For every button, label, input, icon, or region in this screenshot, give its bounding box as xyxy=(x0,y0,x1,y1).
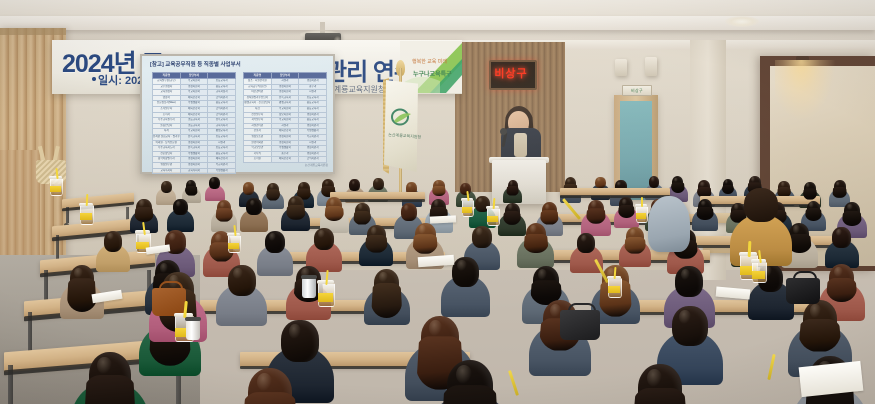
cup-brand-band xyxy=(80,213,92,220)
audience-member-hair xyxy=(134,207,153,222)
flag-emblem-icon xyxy=(391,108,412,127)
slide-footer: 논산계룡교육지원청 xyxy=(280,163,328,169)
hair-highlight xyxy=(508,204,513,210)
hair-highlight xyxy=(781,182,785,187)
handbag xyxy=(152,288,186,316)
audience-member-hair xyxy=(633,388,688,404)
wall-speaker xyxy=(645,57,657,76)
hair-highlight xyxy=(622,199,627,205)
ceiling-soffit xyxy=(0,0,875,16)
hair-highlight xyxy=(379,272,388,282)
slide-table-row: 기타직총무과행정지원과 xyxy=(244,151,327,157)
hair-highlight xyxy=(330,199,335,205)
slide-table-row: 사서학교지원과평생교육과 xyxy=(153,129,236,135)
hair-highlight xyxy=(793,225,800,233)
handout-paper xyxy=(716,287,751,300)
audience-member-hair xyxy=(842,211,862,226)
slide-table-cell: 교육복지과 xyxy=(180,168,208,174)
audience-member-hair xyxy=(441,385,499,404)
audience-member-hair xyxy=(523,234,548,253)
slide-table-row: 특수교육지도사유특교육과초등교육과 xyxy=(153,146,236,152)
hair-highlight xyxy=(597,178,601,182)
tumbler-lid xyxy=(185,317,201,321)
slide-table-row: 미화원 · 당직전문원행정지원과시설과 xyxy=(153,140,236,146)
hair-highlight xyxy=(510,181,513,185)
audience-member-head xyxy=(744,188,778,222)
hair-highlight xyxy=(545,204,550,210)
cup-lid xyxy=(135,230,149,233)
cup-brand-band xyxy=(487,216,498,222)
audience-member-hair xyxy=(540,210,559,224)
cup-brand-band xyxy=(636,213,646,219)
banner-slogan: 행복한 교육 미래 xyxy=(412,58,460,68)
hair-highlight xyxy=(834,267,843,277)
audience-member-hair xyxy=(371,283,402,318)
slide-table-row: 전산실무사정보지원과행정지원과 xyxy=(244,112,327,118)
hair-highlight xyxy=(809,202,814,208)
hair-highlight xyxy=(651,177,655,181)
cup-brand-band xyxy=(228,243,239,249)
seminar-photograph: 비상구 비상구 2024년 교 일시: 2024. 10. 2 관리 연수 논산… xyxy=(0,0,875,404)
slide-table-row: 교육실무원(교무)학교지원과초등교육과 xyxy=(153,79,236,85)
wood-slat-wall-left-lower xyxy=(0,150,40,265)
hair-highlight xyxy=(318,230,325,238)
hair-highlight xyxy=(352,181,356,185)
slide-table-row: 교육행정사학교지원과교육과정과 xyxy=(153,90,236,96)
slide-table-row: 조리실무사체육건강과급식지원과 xyxy=(153,106,236,112)
audience-member-hair xyxy=(365,235,388,253)
slide-table-row: 영양사체육건강과급식지원과 xyxy=(153,95,236,101)
exit-sign-label: 비상구 xyxy=(631,89,643,93)
slide-table-cell: 체육건강과 xyxy=(271,157,299,163)
slide-table-cell: 학생생활과 xyxy=(208,168,236,174)
audience-member-head xyxy=(672,306,708,346)
microphone-icon xyxy=(500,128,507,135)
slide-table-row: 학교보안관학생생활과행정지원과 xyxy=(244,146,327,152)
hair-highlight xyxy=(233,268,242,279)
hair-highlight xyxy=(139,200,144,206)
hair-highlight xyxy=(74,268,82,278)
slide-table-row: 과학실무사학교지원과중등교육과 xyxy=(244,118,327,124)
hair-highlight xyxy=(647,369,662,387)
hair-highlight xyxy=(456,365,472,384)
slide-table-row: 돌봄전담사초등교육과교육복지과 xyxy=(153,123,236,129)
slide-table-row: 환경미화원행정지원과시설과 xyxy=(244,140,327,146)
slide-table-row: 교육공무직(운전)행정지원과총무과 xyxy=(244,84,327,90)
slide-table-cell: 평생교육사 · 진로상담사 xyxy=(244,101,272,107)
cup-brand-band xyxy=(50,186,61,192)
slide-table-cell: 교육복지사 xyxy=(153,168,181,174)
slide-table-row: 사감학교지원과중등교육과 xyxy=(244,106,327,112)
slide-table-row: 청소 · 시설관리원시설과행정지원과 xyxy=(244,79,327,85)
hair-highlight xyxy=(211,178,215,182)
cup-brand-band xyxy=(752,271,765,279)
slide-table-row: 조리사체육건강과급식지원과 xyxy=(153,112,236,118)
slide-table-cell: 급식지원과 xyxy=(299,157,327,163)
audience-member-hair xyxy=(185,186,198,196)
slide-title: [참고] 교육공무직원 등 직종별 사업부서 xyxy=(150,60,260,69)
hair-highlight xyxy=(810,304,822,318)
slide-table-cell: 조리원 xyxy=(244,157,272,163)
led-display-text: 비상구 xyxy=(493,65,529,81)
handout-paper xyxy=(799,361,864,397)
wall-speaker xyxy=(615,59,627,76)
banner-bullet-icon xyxy=(92,77,96,81)
hair-highlight xyxy=(220,202,225,208)
audience-member-headscarf xyxy=(648,196,690,252)
slide-table-row: 전문상담사(Wee)학생생활과중등교육과 xyxy=(153,101,236,107)
slide-table-row: 조리원체육건강과급식지원과 xyxy=(244,157,327,163)
pencil xyxy=(508,370,519,396)
hair-highlight xyxy=(371,227,377,234)
slide-table-row: 평생교육사 · 진로상담사평생교육과중등교육과 xyxy=(244,101,327,107)
slide-table-row: 시설관리원시설과행정지원과 xyxy=(244,123,327,129)
hair-highlight xyxy=(700,182,704,187)
slide-table-cell: 유치원방과후전담사 xyxy=(244,95,272,101)
flag-text: 논산계룡교육지원청 xyxy=(388,132,417,143)
ceiling-light xyxy=(725,16,759,27)
slide-table-row: 전문상담사학생생활과중등교육과 xyxy=(153,151,236,157)
desk-edge xyxy=(330,199,425,202)
hair-highlight xyxy=(270,184,274,189)
slide-table-cell: 유치원 돌봄교사 · 방과후 실무사 xyxy=(153,134,181,140)
hair-highlight xyxy=(97,357,111,374)
exit-sign: 비상구 xyxy=(622,85,652,96)
slide-table-row: 간호사체육건강과학생생활과 xyxy=(244,129,327,135)
spotlight-glow xyxy=(775,60,863,170)
cup-brand-band xyxy=(318,293,333,302)
hair-highlight xyxy=(375,179,379,183)
cup-brand-band xyxy=(462,207,472,213)
slide-table-row: 통학차량실무사행정지원과체육건강과 xyxy=(153,157,236,163)
hair-highlight xyxy=(581,235,587,242)
audience-member-hair xyxy=(84,375,137,404)
desk-edge xyxy=(560,195,670,198)
hair-highlight xyxy=(701,201,706,207)
hair-highlight xyxy=(538,269,547,280)
slide-table-row: 유치원 돌봄교사 · 방과후 실무사유특교육과초등교육과 xyxy=(153,134,236,140)
slide-table-row: 교육복지사교육복지과학생생활과 xyxy=(153,168,236,174)
hair-highlight xyxy=(250,200,255,206)
hair-highlight xyxy=(176,201,181,207)
slide-table-left: 직종명담당부서 교육실무원(교무)학교지원과초등교육과교무행정사행정지원과중등교… xyxy=(152,72,236,164)
slide-table-right: 직종명담당부서 청소 · 시설관리원시설과행정지원과교육공무직(운전)행정지원과… xyxy=(243,72,327,164)
pencil xyxy=(767,354,775,380)
hair-highlight xyxy=(215,234,222,242)
hair-highlight xyxy=(257,373,272,391)
wood-slat-cap xyxy=(0,28,66,35)
hair-highlight xyxy=(325,181,329,186)
banner-logo-text: 누구나교육특구 xyxy=(413,69,461,80)
audience-member-hair xyxy=(506,186,519,196)
handbag xyxy=(560,310,600,340)
tumbler-lid xyxy=(301,275,317,279)
hair-highlight xyxy=(188,181,192,185)
slide-table-row: 특수교육실무사초등교육과유특교육과 xyxy=(153,118,236,124)
hair-highlight xyxy=(429,320,442,335)
slide-table-cell: 미화원 · 당직전문원 xyxy=(153,140,181,146)
travel-tumbler xyxy=(186,320,200,340)
cup-brand-band xyxy=(608,286,620,293)
audience-member-hair xyxy=(242,392,298,404)
hair-highlight xyxy=(591,201,597,208)
audience-member-hair xyxy=(286,205,306,220)
handbag xyxy=(786,278,820,304)
hair-highlight xyxy=(457,260,466,271)
slide-table-row: 유치원방과후전담사유특교육과초등교육과 xyxy=(244,95,327,101)
slide-table-row: 행정보조원행정지원과학교지원과 xyxy=(244,134,327,140)
hair-highlight xyxy=(734,204,739,209)
slide-table-row: 야간경비원행정지원과시설과 xyxy=(244,90,327,96)
slide-table-row: 행정실무원행정지원과학교지원과 xyxy=(153,162,236,168)
presenter-blouse xyxy=(514,133,527,157)
slide-table-row: 교무행정사행정지원과중등교육과 xyxy=(153,84,236,90)
hair-highlight xyxy=(847,204,852,210)
handout-paper xyxy=(430,215,456,223)
hair-highlight xyxy=(419,225,426,233)
travel-tumbler xyxy=(302,278,316,298)
audience-member-hair xyxy=(832,187,847,198)
